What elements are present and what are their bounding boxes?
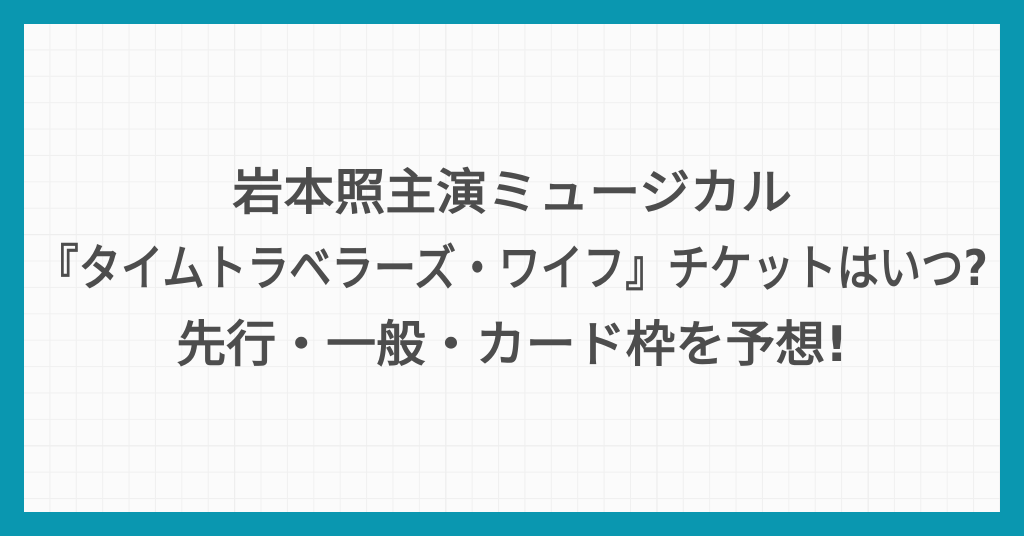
title-line-3: 先行・一般・カード枠を予想! — [176, 320, 848, 369]
title-line-2: 『タイムトラベラーズ・ワイフ』チケットはいつ? — [36, 244, 988, 293]
title-block: 岩本照主演ミュージカル 『タイムトラベラーズ・ワイフ』チケットはいつ? 先行・一… — [24, 24, 1000, 512]
eyecatch-image: 岩本照主演ミュージカル 『タイムトラベラーズ・ワイフ』チケットはいつ? 先行・一… — [0, 0, 1024, 536]
title-line-1: 岩本照主演ミュージカル — [232, 168, 792, 217]
grid-paper-background: 岩本照主演ミュージカル 『タイムトラベラーズ・ワイフ』チケットはいつ? 先行・一… — [24, 24, 1000, 512]
